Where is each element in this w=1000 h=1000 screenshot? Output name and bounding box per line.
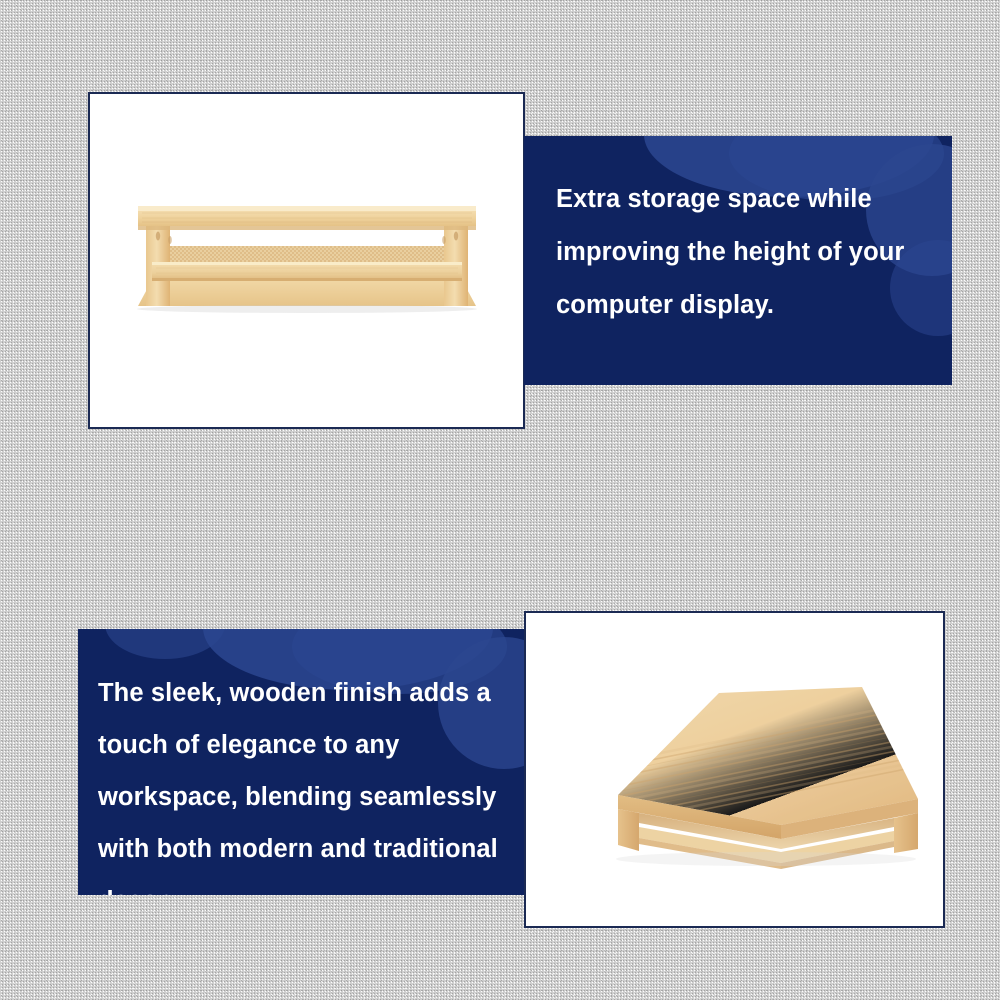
feature-panel-finish-text: The sleek, wooden finish adds a touch of… [98, 667, 508, 895]
product-photo-top-angle-view-card [524, 611, 945, 928]
feature-panel-storage-text: Extra storage space while improving the … [556, 173, 928, 332]
product-photo-front-view-card [88, 92, 525, 429]
feature-panel-finish: The sleek, wooden finish adds a touch of… [78, 629, 524, 895]
monitor-riser-angle-illustration [526, 613, 943, 926]
feature-panel-storage: Extra storage space while improving the … [524, 136, 952, 385]
monitor-riser-front-illustration [90, 94, 523, 427]
product-photo-top-angle-view [526, 613, 943, 926]
infographic-stage: Extra storage space while improving the … [0, 0, 1000, 1000]
product-photo-front-view [90, 94, 523, 427]
